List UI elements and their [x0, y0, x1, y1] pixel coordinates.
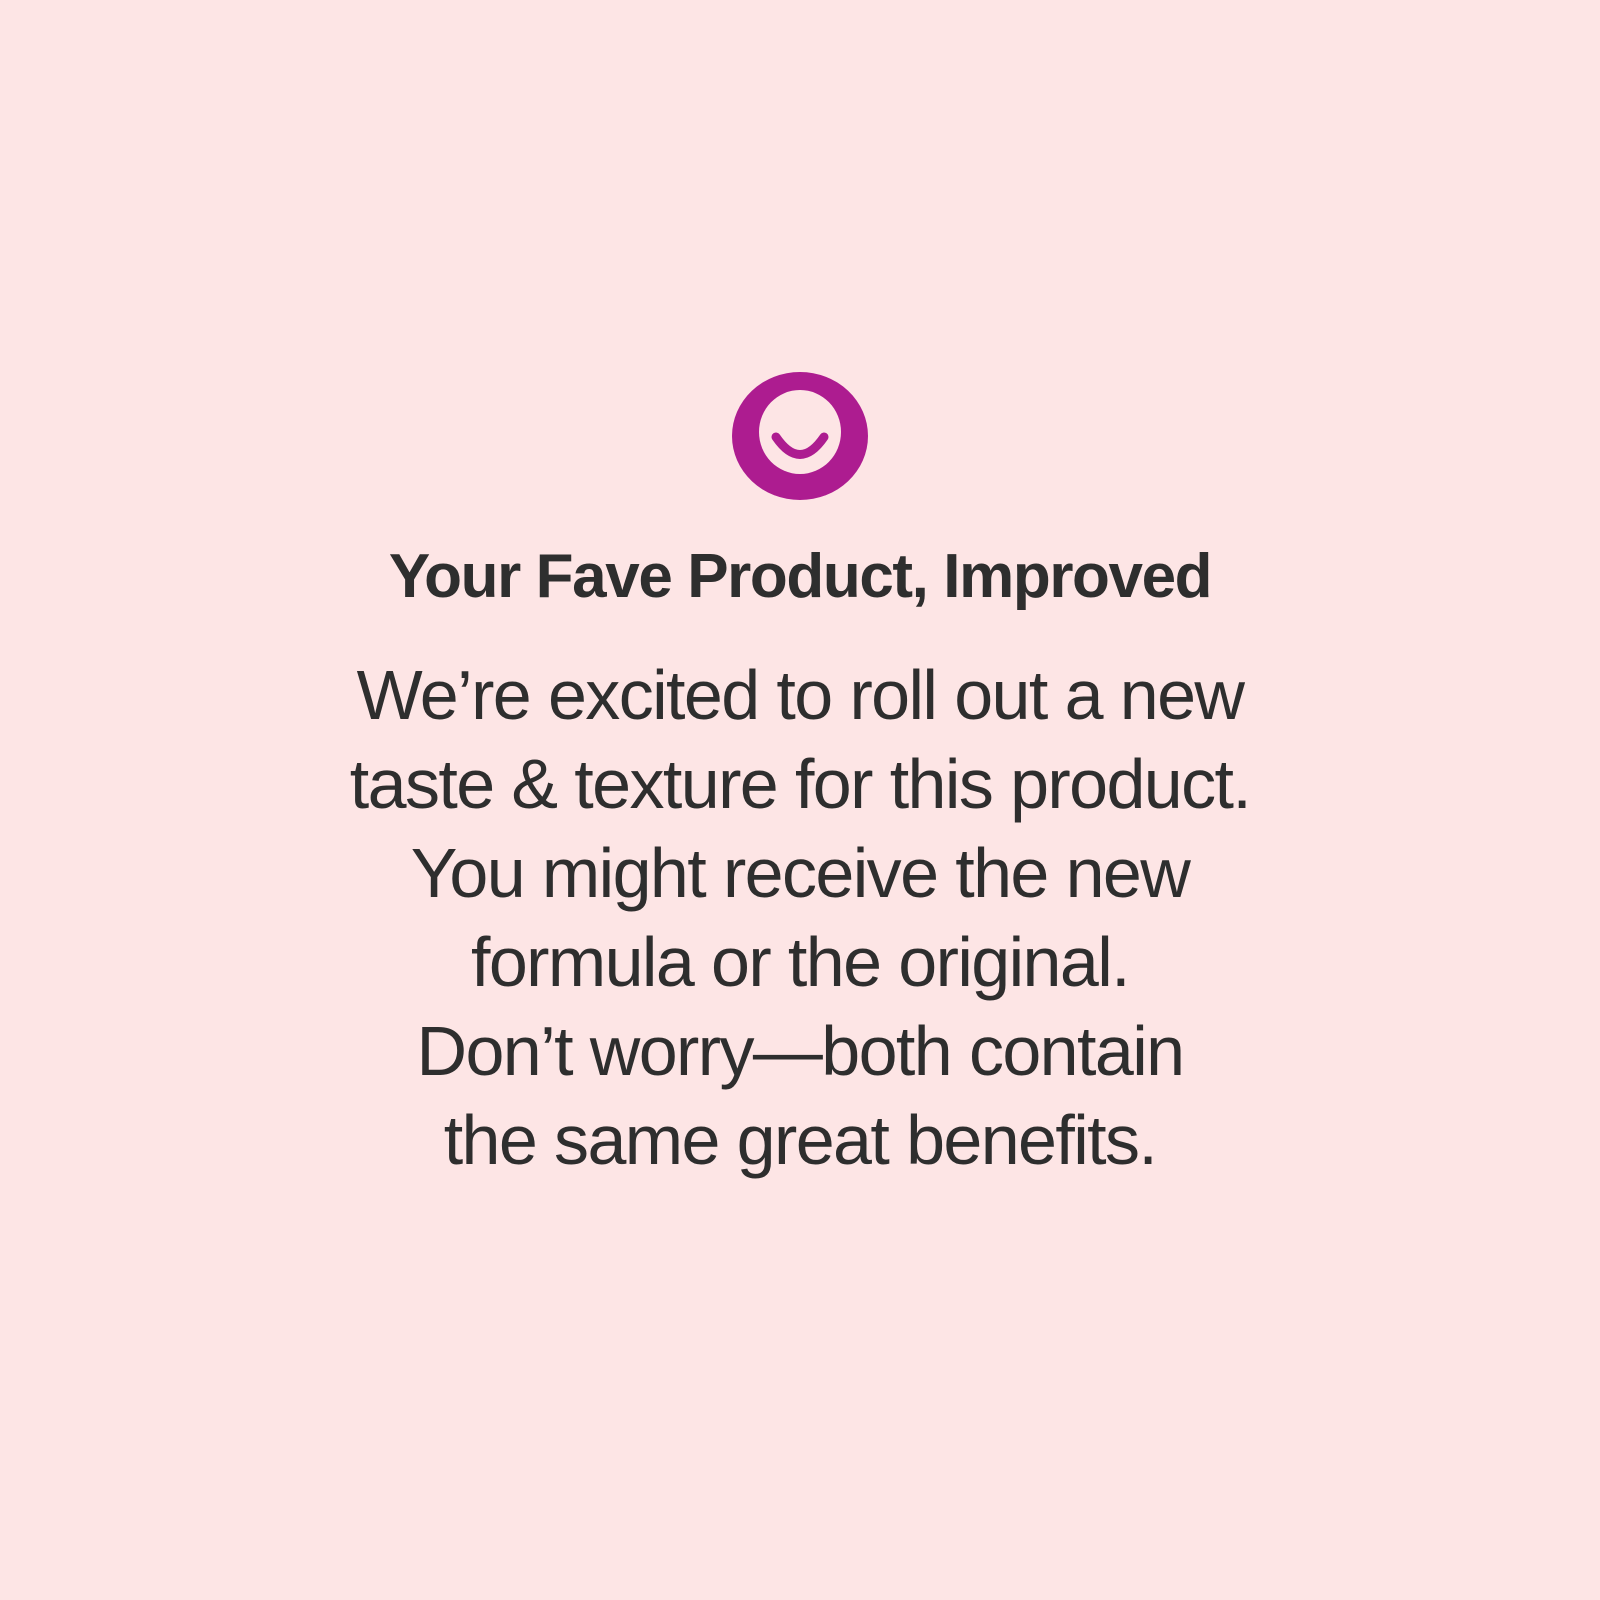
page-title: Your Fave Product, Improved — [389, 544, 1211, 609]
smiley-ring-logo-icon — [732, 372, 868, 500]
body-copy: We’re excited to roll out a new taste & … — [350, 651, 1250, 1185]
body-line: taste & texture for this product. — [350, 740, 1250, 829]
body-line: You might receive the new — [350, 829, 1250, 918]
body-line: formula or the original. — [350, 918, 1250, 1007]
product-update-notice-card: Your Fave Product, Improved We’re excite… — [0, 0, 1600, 1600]
body-line: Don’t worry—both contain — [350, 1007, 1250, 1096]
body-line: We’re excited to roll out a new — [350, 651, 1250, 740]
body-line: the same great benefits. — [350, 1096, 1250, 1185]
